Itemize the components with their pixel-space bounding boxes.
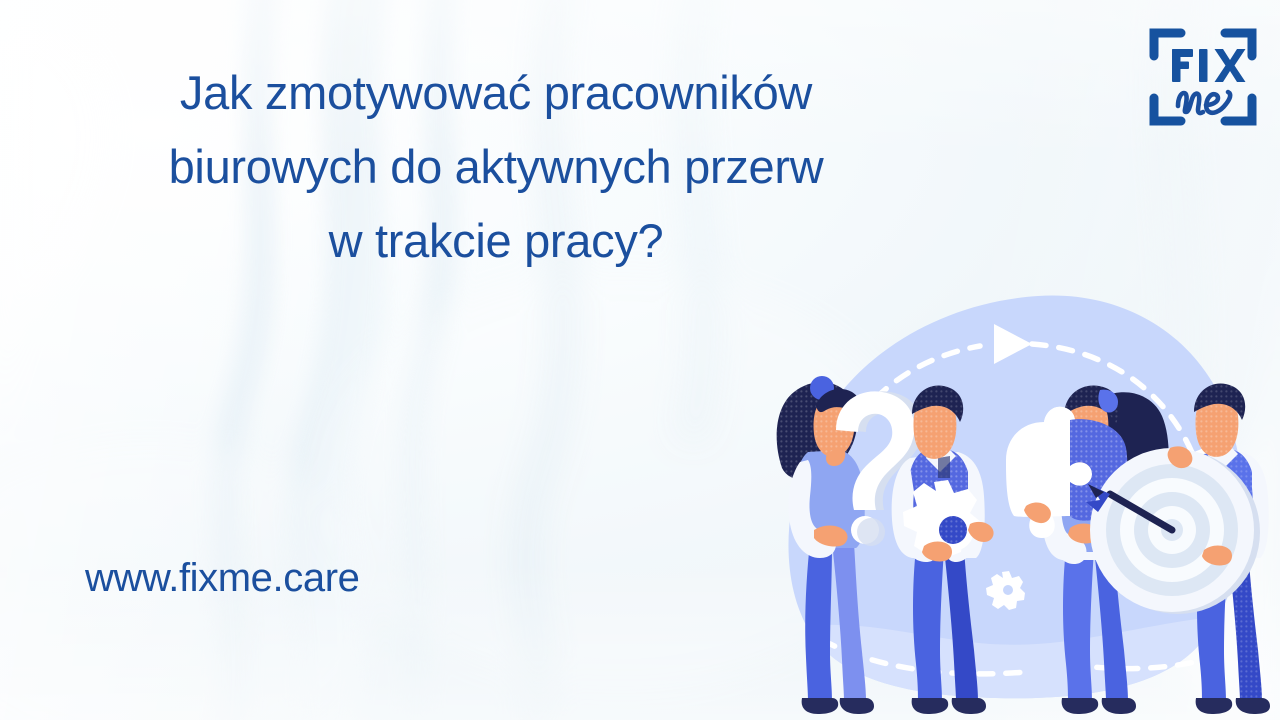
headline-line-2: biurowych do aktywnych przerw bbox=[26, 130, 966, 204]
website-url[interactable]: www.fixme.care bbox=[85, 554, 359, 602]
illustration-business-team bbox=[770, 280, 1280, 720]
logo-text-fix bbox=[1172, 49, 1246, 82]
headline-line-1: Jak zmotywować pracowników bbox=[26, 56, 966, 130]
logo-text-me bbox=[1178, 92, 1230, 113]
fixme-logo[interactable] bbox=[1148, 22, 1258, 132]
illustration-svg bbox=[770, 280, 1280, 720]
logo-mark bbox=[1148, 22, 1258, 132]
page-title: Jak zmotywować pracowników biurowych do … bbox=[26, 56, 966, 278]
banner-canvas: Jak zmotywować pracowników biurowych do … bbox=[0, 0, 1280, 720]
headline-line-3: w trakcie pracy? bbox=[26, 204, 966, 278]
